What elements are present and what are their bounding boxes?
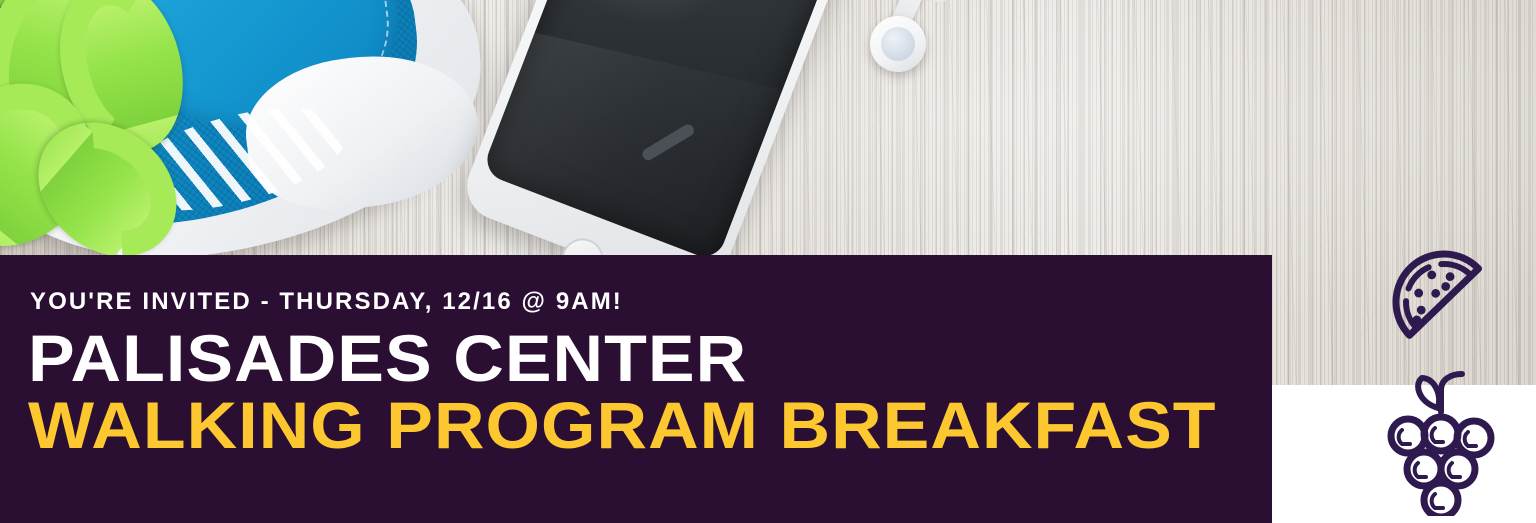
banner-headline-line1: PALISADES CENTER (28, 325, 747, 391)
grape-bunch-icon (1378, 368, 1504, 516)
earbud-tip (870, 16, 926, 72)
banner-eyebrow-text: YOU'RE INVITED - THURSDAY, 12/16 @ 9AM! (30, 288, 623, 316)
earbud-photo (856, 0, 966, 82)
event-banner: YOU'RE INVITED - THURSDAY, 12/16 @ 9AM! … (0, 0, 1536, 523)
watermelon-slice-icon (1384, 240, 1504, 364)
banner-headline-line2: WALKING PROGRAM BREAKFAST (28, 392, 1217, 458)
